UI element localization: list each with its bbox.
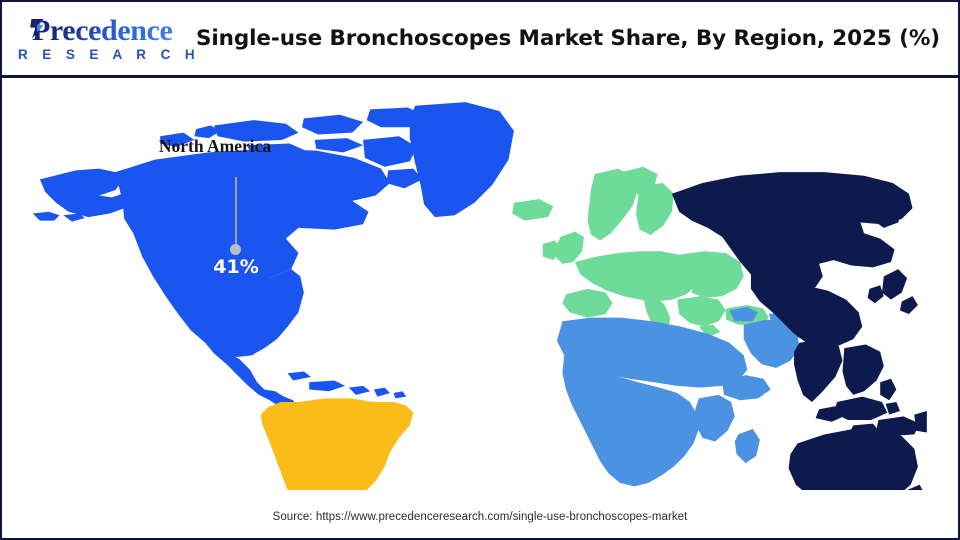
- map-container: North America 41%: [2, 78, 958, 498]
- brand-logo[interactable]: Precedence R E S E A R C H: [16, 14, 178, 66]
- infographic-root: Precedence R E S E A R C H Single-use Br…: [0, 0, 960, 540]
- brand-subtitle: R E S E A R C H: [18, 47, 178, 63]
- world-map: [28, 86, 928, 490]
- source-link[interactable]: Source: https://www.precedenceresearch.c…: [273, 511, 688, 523]
- map-region-north-america[interactable]: [33, 102, 514, 418]
- header-bar: Precedence R E S E A R C H Single-use Br…: [2, 2, 958, 78]
- footer-bar: Source: https://www.precedenceresearch.c…: [2, 496, 958, 538]
- map-region-latin-america[interactable]: [261, 398, 414, 490]
- page-title: Single-use Bronchoscopes Market Share, B…: [188, 2, 948, 75]
- leaf-mark-icon: [29, 18, 46, 40]
